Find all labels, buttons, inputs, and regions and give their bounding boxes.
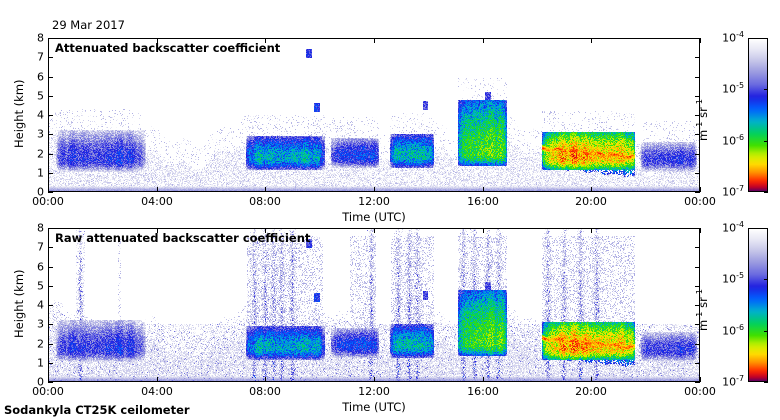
ytick-label: 1 bbox=[26, 167, 44, 180]
ytick-mark bbox=[48, 382, 53, 383]
colorbar-tick-label: 10-7 bbox=[712, 186, 744, 199]
ytick-mark bbox=[48, 77, 53, 78]
ytick-mark-right bbox=[695, 192, 700, 193]
xtick-mark-top bbox=[591, 38, 592, 43]
instrument-footer: Sodankyla CT25K ceilometer bbox=[4, 403, 190, 417]
heatmap-attenuated-backscatter bbox=[48, 38, 700, 192]
ytick-mark-right bbox=[695, 154, 700, 155]
xtick-mark bbox=[157, 377, 158, 382]
xtick-label: 08:00 bbox=[249, 385, 281, 398]
xtick-mark bbox=[591, 187, 592, 192]
xtick-mark bbox=[591, 377, 592, 382]
date-label: 29 Mar 2017 bbox=[52, 18, 125, 32]
colorbar-tick-label: 10-6 bbox=[712, 325, 744, 338]
ytick-mark bbox=[48, 38, 53, 39]
colorbar-tick-mark bbox=[764, 141, 768, 142]
xtick-label: 04:00 bbox=[141, 385, 173, 398]
xtick-mark bbox=[374, 187, 375, 192]
panel-title-attenuated-backscatter: Attenuated backscatter coefficient bbox=[55, 41, 280, 55]
x-axis-label-attenuated-backscatter: Time (UTC) bbox=[334, 210, 414, 224]
colorbar-tick-label: 10-6 bbox=[712, 135, 744, 148]
xtick-mark bbox=[157, 187, 158, 192]
colorbar-tick-mark bbox=[764, 228, 768, 229]
xtick-label: 08:00 bbox=[249, 195, 281, 208]
ytick-label: 2 bbox=[26, 338, 44, 351]
ytick-mark bbox=[48, 363, 53, 364]
xtick-mark bbox=[483, 187, 484, 192]
ytick-mark bbox=[48, 57, 53, 58]
ytick-mark-right bbox=[695, 96, 700, 97]
colorbar-tick-label: 10-5 bbox=[712, 273, 744, 286]
colorbar-unit-raw-attenuated-backscatter: m-1 sr-1 bbox=[696, 289, 710, 331]
ytick-label: 8 bbox=[26, 222, 44, 235]
xtick-mark-top bbox=[157, 38, 158, 43]
ytick-mark bbox=[48, 173, 53, 174]
ytick-label: 3 bbox=[26, 318, 44, 331]
ytick-label: 3 bbox=[26, 128, 44, 141]
ytick-mark-right bbox=[695, 267, 700, 268]
xtick-mark-top bbox=[265, 38, 266, 43]
xtick-mark-top bbox=[700, 228, 701, 233]
ytick-mark bbox=[48, 115, 53, 116]
ytick-mark bbox=[48, 247, 53, 248]
y-axis-label-raw-attenuated-backscatter: Height (km) bbox=[12, 269, 26, 338]
colorbar-tick-label: 10-4 bbox=[712, 32, 744, 45]
xtick-label: 12:00 bbox=[358, 385, 390, 398]
xtick-mark bbox=[700, 187, 701, 192]
ytick-mark bbox=[48, 324, 53, 325]
ytick-label: 7 bbox=[26, 241, 44, 254]
xtick-label: 20:00 bbox=[575, 195, 607, 208]
colorbar-tick-mark bbox=[764, 38, 768, 39]
colorbar-raw-attenuated-backscatter bbox=[748, 228, 768, 382]
ytick-label: 8 bbox=[26, 32, 44, 45]
xtick-mark bbox=[265, 187, 266, 192]
ytick-mark bbox=[48, 228, 53, 229]
xtick-mark-top bbox=[483, 228, 484, 233]
y-axis-label-attenuated-backscatter: Height (km) bbox=[12, 79, 26, 148]
xtick-mark bbox=[265, 377, 266, 382]
ytick-label: 0 bbox=[26, 186, 44, 199]
ytick-label: 6 bbox=[26, 71, 44, 84]
ytick-label: 4 bbox=[26, 109, 44, 122]
ytick-mark-right bbox=[695, 77, 700, 78]
xtick-mark bbox=[374, 377, 375, 382]
ytick-mark-right bbox=[695, 344, 700, 345]
ytick-mark-right bbox=[695, 382, 700, 383]
ytick-mark bbox=[48, 344, 53, 345]
heatmap-raw-attenuated-backscatter bbox=[48, 228, 700, 382]
xtick-label: 16:00 bbox=[467, 385, 499, 398]
xtick-label: 12:00 bbox=[358, 195, 390, 208]
colorbar-tick-mark bbox=[764, 192, 768, 193]
ytick-label: 1 bbox=[26, 357, 44, 370]
ytick-mark-right bbox=[695, 247, 700, 248]
ytick-label: 0 bbox=[26, 376, 44, 389]
xtick-mark-top bbox=[374, 228, 375, 233]
xtick-label: 04:00 bbox=[141, 195, 173, 208]
colorbar-tick-label: 10-7 bbox=[712, 376, 744, 389]
ytick-mark-right bbox=[695, 173, 700, 174]
ytick-mark-right bbox=[695, 228, 700, 229]
ytick-mark-right bbox=[695, 38, 700, 39]
ytick-mark bbox=[48, 286, 53, 287]
colorbar-tick-label: 10-5 bbox=[712, 83, 744, 96]
xtick-mark bbox=[700, 377, 701, 382]
ytick-label: 4 bbox=[26, 299, 44, 312]
ytick-mark-right bbox=[695, 57, 700, 58]
ytick-mark bbox=[48, 267, 53, 268]
colorbar-tick-mark bbox=[764, 279, 768, 280]
colorbar-unit-attenuated-backscatter: m-1 sr-1 bbox=[696, 99, 710, 141]
ytick-label: 7 bbox=[26, 51, 44, 64]
colorbar-tick-mark bbox=[764, 382, 768, 383]
ytick-mark-right bbox=[695, 363, 700, 364]
ytick-mark bbox=[48, 192, 53, 193]
ytick-label: 2 bbox=[26, 148, 44, 161]
colorbar-tick-label: 10-4 bbox=[712, 222, 744, 235]
xtick-mark-top bbox=[265, 228, 266, 233]
xtick-mark-top bbox=[374, 38, 375, 43]
ytick-mark-right bbox=[695, 286, 700, 287]
ytick-mark bbox=[48, 96, 53, 97]
ytick-label: 5 bbox=[26, 280, 44, 293]
ytick-label: 5 bbox=[26, 90, 44, 103]
xtick-label: 20:00 bbox=[575, 385, 607, 398]
ytick-mark bbox=[48, 154, 53, 155]
xtick-mark-top bbox=[591, 228, 592, 233]
ceilometer-figure: Attenuated backscatter coefficient00:000… bbox=[0, 0, 780, 420]
xtick-mark-top bbox=[700, 38, 701, 43]
colorbar-tick-mark bbox=[764, 89, 768, 90]
xtick-mark bbox=[483, 377, 484, 382]
colorbar-attenuated-backscatter bbox=[748, 38, 768, 192]
ytick-mark bbox=[48, 305, 53, 306]
xtick-mark-top bbox=[157, 228, 158, 233]
x-axis-label-raw-attenuated-backscatter: Time (UTC) bbox=[334, 400, 414, 414]
xtick-label: 16:00 bbox=[467, 195, 499, 208]
ytick-label: 6 bbox=[26, 261, 44, 274]
ytick-mark bbox=[48, 134, 53, 135]
panel-title-raw-attenuated-backscatter: Raw attenuated backscatter coefficient bbox=[55, 231, 310, 245]
colorbar-tick-mark bbox=[764, 331, 768, 332]
xtick-mark-top bbox=[483, 38, 484, 43]
